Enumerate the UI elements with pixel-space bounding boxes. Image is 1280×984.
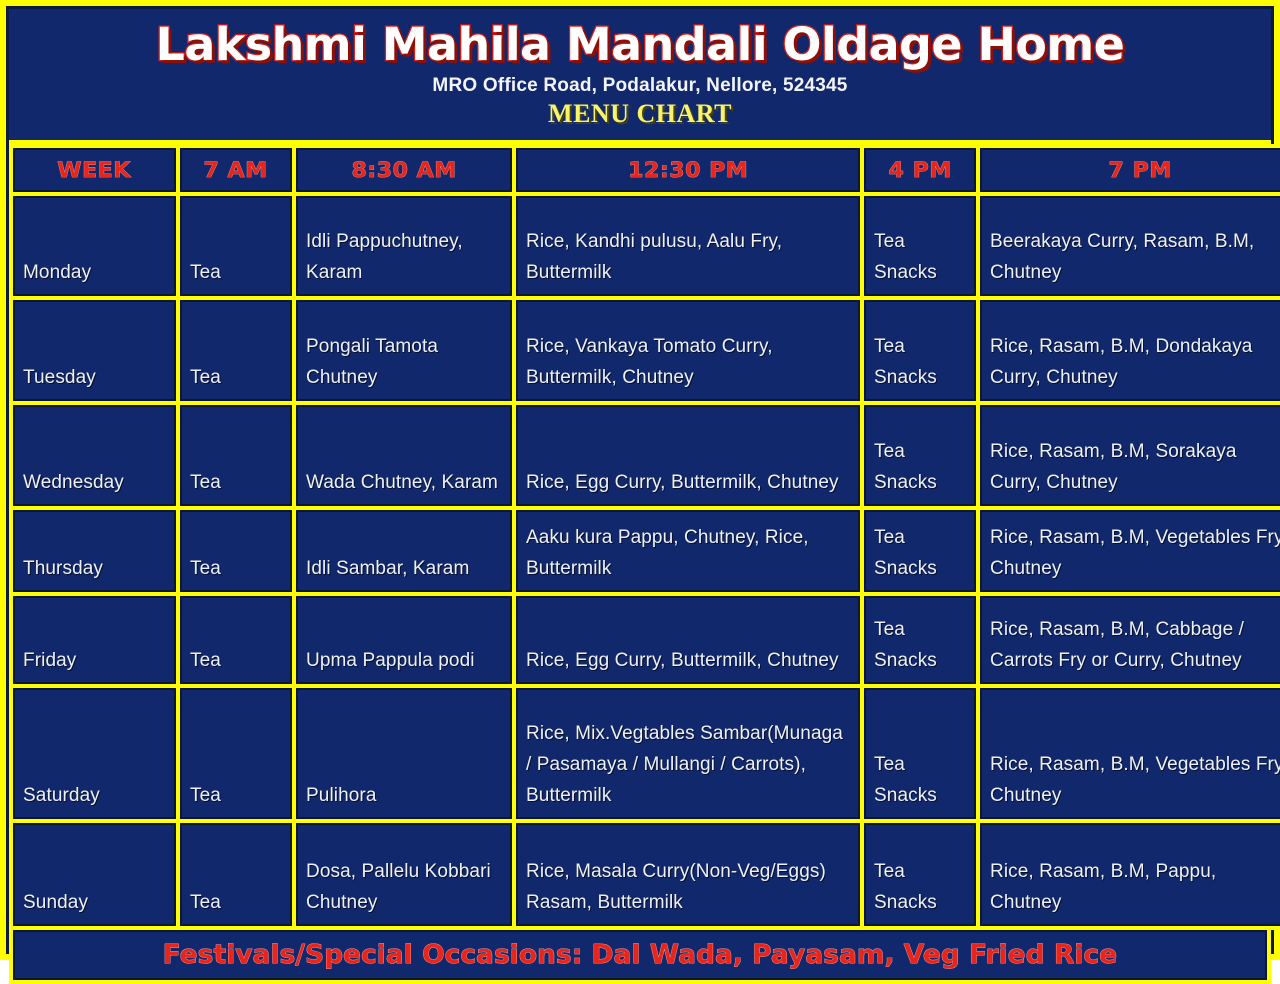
meal-text: Tea Snacks xyxy=(874,614,966,676)
cell-830am: Idli Pappuchutney, Karam xyxy=(296,196,512,296)
column-header-label: 8:30 AM xyxy=(351,158,456,182)
meal-text: Tea xyxy=(190,645,282,676)
meal-text: Rice, Kandhi pulusu, Aalu Fry, Buttermil… xyxy=(526,226,850,288)
cell-7am: Tea xyxy=(180,405,292,506)
meal-text: Rice, Rasam, B.M, Pappu, Chutney xyxy=(990,856,1280,918)
meal-text: Tea xyxy=(190,780,282,811)
cell-day: Thursday xyxy=(13,510,176,592)
cell-830am: Pongali Tamota Chutney xyxy=(296,300,512,401)
meal-text: Tea Snacks xyxy=(874,522,966,584)
meal-text: Tea Snacks xyxy=(874,331,966,393)
cell-830am: Idli Sambar, Karam xyxy=(296,510,512,592)
column-header-830am: 8:30 AM xyxy=(296,148,512,192)
meal-text: Tea xyxy=(190,467,282,498)
meal-text: Rice, Mix.Vegtables Sambar(Munaga / Pasa… xyxy=(526,718,850,811)
cell-1230pm: Rice, Kandhi pulusu, Aalu Fry, Buttermil… xyxy=(516,196,860,296)
day-label: Sunday xyxy=(23,887,166,918)
cell-4pm: Tea Snacks xyxy=(864,405,976,506)
day-label: Saturday xyxy=(23,780,166,811)
meal-text: Dosa, Pallelu Kobbari Chutney xyxy=(306,856,502,918)
meal-text: Pongali Tamota Chutney xyxy=(306,331,502,393)
column-header-label: WEEK xyxy=(58,158,132,182)
cell-4pm: Tea Snacks xyxy=(864,510,976,592)
cell-4pm: Tea Snacks xyxy=(864,823,976,926)
cell-1230pm: Rice, Masala Curry(Non-Veg/Eggs) Rasam, … xyxy=(516,823,860,926)
meal-text: Rice, Rasam, B.M, Sorakaya Curry, Chutne… xyxy=(990,436,1280,498)
meal-text: Upma Pappula podi xyxy=(306,645,502,676)
meal-text: Tea xyxy=(190,887,282,918)
cell-1230pm: Aaku kura Pappu, Chutney, Rice, Buttermi… xyxy=(516,510,860,592)
cell-4pm: Tea Snacks xyxy=(864,300,976,401)
day-label: Friday xyxy=(23,645,166,676)
meal-text: Aaku kura Pappu, Chutney, Rice, Buttermi… xyxy=(526,522,850,584)
table-row: Sunday Tea Dosa, Pallelu Kobbari Chutney… xyxy=(13,823,1280,926)
meal-text: Wada Chutney, Karam xyxy=(306,467,502,498)
meal-text: Tea xyxy=(190,362,282,393)
column-header-week: WEEK xyxy=(13,148,176,192)
cell-7pm: Rice, Rasam, B.M, Vegetables Fry, Chutne… xyxy=(980,510,1280,592)
cell-day: Saturday xyxy=(13,688,176,819)
table-row: Saturday Tea Pulihora Rice, Mix.Vegtable… xyxy=(13,688,1280,819)
column-header-label: 7 AM xyxy=(204,158,268,182)
cell-7am: Tea xyxy=(180,596,292,684)
cell-day: Monday xyxy=(13,196,176,296)
cell-1230pm: Rice, Vankaya Tomato Curry, Buttermilk, … xyxy=(516,300,860,401)
poster-header: Lakshmi Mahila Mandali Oldage Home MRO O… xyxy=(9,9,1271,140)
cell-7am: Tea xyxy=(180,300,292,401)
cell-4pm: Tea Snacks xyxy=(864,688,976,819)
cell-830am: Dosa, Pallelu Kobbari Chutney xyxy=(296,823,512,926)
festival-note-band: Festivals/Special Occasions: Dal Wada, P… xyxy=(13,930,1267,980)
poster-inner-frame: Lakshmi Mahila Mandali Oldage Home MRO O… xyxy=(6,6,1274,954)
cell-7am: Tea xyxy=(180,510,292,592)
meal-text: Idli Sambar, Karam xyxy=(306,553,502,584)
cell-7pm: Beerakaya Curry, Rasam, B.M, Chutney xyxy=(980,196,1280,296)
meal-text: Rice, Rasam, B.M, Cabbage / Carrots Fry … xyxy=(990,614,1280,676)
meal-text: Rice, Egg Curry, Buttermilk, Chutney xyxy=(526,467,850,498)
day-label: Thursday xyxy=(23,553,166,584)
day-label: Monday xyxy=(23,257,166,288)
cell-day: Sunday xyxy=(13,823,176,926)
day-label: Tuesday xyxy=(23,362,166,393)
table-row: Friday Tea Upma Pappula podi Rice, Egg C… xyxy=(13,596,1280,684)
cell-7pm: Rice, Rasam, B.M, Vegetables Fry, Chutne… xyxy=(980,688,1280,819)
meal-text: Rice, Egg Curry, Buttermilk, Chutney xyxy=(526,645,850,676)
meal-text: Tea Snacks xyxy=(874,749,966,811)
table-row: Tuesday Tea Pongali Tamota Chutney Rice,… xyxy=(13,300,1280,401)
cell-1230pm: Rice, Mix.Vegtables Sambar(Munaga / Pasa… xyxy=(516,688,860,819)
cell-7pm: Rice, Rasam, B.M, Sorakaya Curry, Chutne… xyxy=(980,405,1280,506)
cell-day: Tuesday xyxy=(13,300,176,401)
cell-7pm: Rice, Rasam, B.M, Cabbage / Carrots Fry … xyxy=(980,596,1280,684)
meal-text: Pulihora xyxy=(306,780,502,811)
meal-text: Rice, Rasam, B.M, Vegetables Fry, Chutne… xyxy=(990,749,1280,811)
cell-7am: Tea xyxy=(180,823,292,926)
festival-note: Festivals/Special Occasions: Dal Wada, P… xyxy=(163,940,1117,970)
cell-7pm: Rice, Rasam, B.M, Dondakaya Curry, Chutn… xyxy=(980,300,1280,401)
meal-text: Tea Snacks xyxy=(874,856,966,918)
column-header-label: 12:30 PM xyxy=(628,158,748,182)
day-label: Wednesday xyxy=(23,467,166,498)
meal-text: Tea Snacks xyxy=(874,226,966,288)
meal-text: Rice, Masala Curry(Non-Veg/Eggs) Rasam, … xyxy=(526,856,850,918)
table-row: Thursday Tea Idli Sambar, Karam Aaku kur… xyxy=(13,510,1280,592)
meal-text: Idli Pappuchutney, Karam xyxy=(306,226,502,288)
cell-day: Friday xyxy=(13,596,176,684)
table-row: Wednesday Tea Wada Chutney, Karam Rice, … xyxy=(13,405,1280,506)
meal-text: Tea Snacks xyxy=(874,436,966,498)
menu-chart-heading: MENU CHART xyxy=(9,99,1271,129)
meal-text: Rice, Rasam, B.M, Vegetables Fry, Chutne… xyxy=(990,522,1280,584)
cell-4pm: Tea Snacks xyxy=(864,196,976,296)
meal-text: Tea xyxy=(190,257,282,288)
cell-4pm: Tea Snacks xyxy=(864,596,976,684)
page-title: Lakshmi Mahila Mandali Oldage Home xyxy=(0,19,1280,71)
cell-830am: Pulihora xyxy=(296,688,512,819)
table-row: Monday Tea Idli Pappuchutney, Karam Rice… xyxy=(13,196,1280,296)
cell-1230pm: Rice, Egg Curry, Buttermilk, Chutney xyxy=(516,405,860,506)
cell-7pm: Rice, Rasam, B.M, Pappu, Chutney xyxy=(980,823,1280,926)
column-header-label: 4 PM xyxy=(888,158,951,182)
column-header-7pm: 7 PM xyxy=(980,148,1280,192)
cell-day: Wednesday xyxy=(13,405,176,506)
menu-table-container: WEEK 7 AM 8:30 AM 12:30 PM 4 PM xyxy=(9,140,1271,930)
column-header-4pm: 4 PM xyxy=(864,148,976,192)
meal-text: Rice, Rasam, B.M, Dondakaya Curry, Chutn… xyxy=(990,331,1280,393)
column-header-7am: 7 AM xyxy=(180,148,292,192)
cell-7am: Tea xyxy=(180,688,292,819)
menu-table: WEEK 7 AM 8:30 AM 12:30 PM 4 PM xyxy=(9,144,1280,930)
column-header-label: 7 PM xyxy=(1109,158,1172,182)
meal-text: Beerakaya Curry, Rasam, B.M, Chutney xyxy=(990,226,1280,288)
table-header-row: WEEK 7 AM 8:30 AM 12:30 PM 4 PM xyxy=(13,148,1280,192)
address-line: MRO Office Road, Podalakur, Nellore, 524… xyxy=(9,74,1271,98)
menu-chart-poster: Lakshmi Mahila Mandali Oldage Home MRO O… xyxy=(0,0,1280,960)
cell-1230pm: Rice, Egg Curry, Buttermilk, Chutney xyxy=(516,596,860,684)
column-header-1230pm: 12:30 PM xyxy=(516,148,860,192)
cell-7am: Tea xyxy=(180,196,292,296)
meal-text: Tea xyxy=(190,553,282,584)
meal-text: Rice, Vankaya Tomato Curry, Buttermilk, … xyxy=(526,331,850,393)
cell-830am: Wada Chutney, Karam xyxy=(296,405,512,506)
poster-footer: Festivals/Special Occasions: Dal Wada, P… xyxy=(9,930,1271,984)
cell-830am: Upma Pappula podi xyxy=(296,596,512,684)
